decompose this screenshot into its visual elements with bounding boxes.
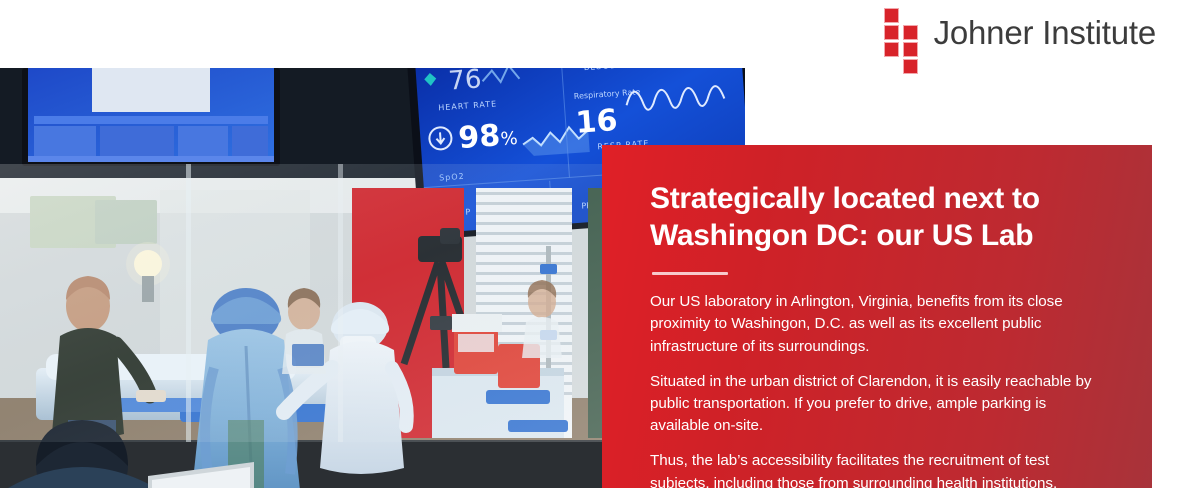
logo-square xyxy=(884,42,899,57)
logo-square xyxy=(884,25,899,40)
logo-square xyxy=(903,25,918,40)
svg-text:76: 76 xyxy=(447,68,482,97)
brand-name: Johner Institute xyxy=(934,14,1156,52)
svg-text:98: 98 xyxy=(457,118,501,156)
panel-title: Strategically located next to Washingon … xyxy=(650,181,1108,254)
panel-paragraph-1: Our US laboratory in Arlington, Virginia… xyxy=(650,291,1108,358)
panel-paragraph-3: Thus, the lab’s accessibility facilitate… xyxy=(650,450,1108,488)
brand-logo[interactable]: Johner Institute xyxy=(884,8,1156,58)
johner-squares-logo-icon xyxy=(884,8,918,58)
panel-paragraph-2: Situated in the urban district of Claren… xyxy=(650,371,1108,438)
info-panel: Strategically located next to Washingon … xyxy=(602,145,1152,488)
promo-banner: Johner Institute xyxy=(0,0,1200,488)
svg-text:16: 16 xyxy=(574,103,618,141)
svg-text:%: % xyxy=(500,128,519,150)
logo-square xyxy=(884,8,899,23)
logo-square xyxy=(903,42,918,57)
title-divider xyxy=(652,272,728,275)
logo-square xyxy=(903,59,918,74)
